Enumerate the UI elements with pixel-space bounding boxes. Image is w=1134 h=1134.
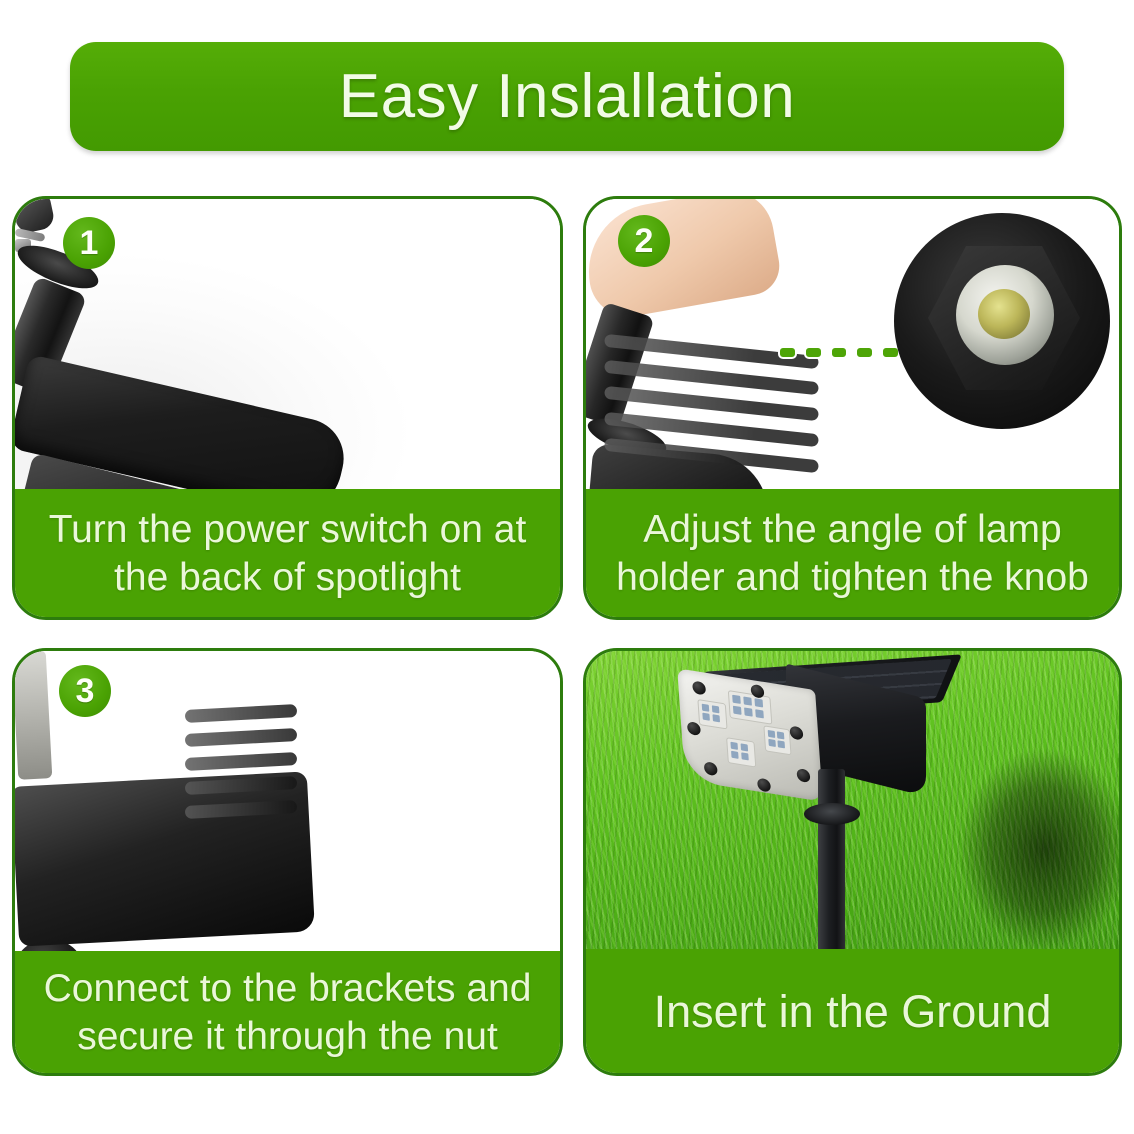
- dash-segment-icon: [830, 346, 849, 359]
- led-chip-icon: [712, 705, 720, 713]
- led-chip-icon: [743, 696, 752, 705]
- caption-bar-4: Insert in the Ground: [585, 949, 1120, 1074]
- led-chip-icon: [712, 714, 720, 722]
- faceplate-screw-icon: [796, 768, 810, 783]
- step-panel-2: 2 Adjust the angle of lamp hol: [583, 196, 1122, 620]
- led-chip-icon: [730, 742, 738, 750]
- led-chip-icon: [731, 751, 739, 759]
- caption-text-3: Connect to the brackets and secure it th…: [14, 965, 561, 1061]
- heatsink-fin-icon: [185, 704, 298, 723]
- led-module-icon: [726, 737, 756, 767]
- caption-bar-3: Connect to the brackets and secure it th…: [14, 951, 561, 1074]
- led-chip-icon: [702, 713, 710, 721]
- caption-text-2: Adjust the angle of lamp holder and tigh…: [585, 506, 1120, 602]
- led-chip-icon: [733, 706, 742, 715]
- page-title: Easy Inslallation: [339, 61, 796, 132]
- led-module-icon: [763, 725, 791, 755]
- faceplate-screw-icon: [692, 680, 706, 695]
- faceplate-screw-icon: [704, 761, 718, 776]
- led-chip-icon: [741, 752, 749, 760]
- spotlight-in-grass-photo: [586, 651, 1119, 951]
- led-chip-icon: [702, 704, 710, 712]
- screw-core-icon: [978, 289, 1030, 339]
- faceplate-screw-icon: [789, 725, 803, 740]
- led-chip-icon: [744, 707, 753, 716]
- caption-text-1: Turn the power switch on at the back of …: [14, 506, 561, 602]
- hex-nut-closeup-inset: [894, 213, 1110, 429]
- dash-segment-icon: [804, 346, 823, 359]
- led-module-icon: [728, 690, 773, 725]
- led-faceplate-icon: [677, 668, 823, 802]
- heatsink-fin-icon: [185, 752, 298, 771]
- led-chip-icon: [754, 698, 763, 707]
- step-panel-1: 1 Turn the power switch on at the back o…: [12, 196, 563, 620]
- heatsink-fin-icon: [185, 728, 298, 747]
- led-chip-icon: [777, 731, 785, 739]
- ground-stake-pole-icon: [818, 769, 845, 951]
- lamp-lens-icon: [15, 651, 52, 780]
- step-badge-3: 3: [59, 665, 111, 717]
- lamp-fixture-icon: [15, 771, 315, 946]
- step-panel-3: 3 Connect to the brackets and secure it …: [12, 648, 563, 1076]
- led-chip-icon: [755, 709, 764, 718]
- caption-bar-2: Adjust the angle of lamp holder and tigh…: [585, 489, 1120, 618]
- caption-text-4: Insert in the Ground: [642, 988, 1064, 1036]
- hand-icon: [586, 199, 784, 323]
- led-chip-icon: [768, 739, 776, 747]
- led-chip-icon: [741, 743, 749, 751]
- spotlight-exploded-parts-photo: 1: [15, 199, 560, 491]
- connect-bracket-photo: 3: [15, 651, 560, 953]
- led-chip-icon: [732, 695, 741, 704]
- faceplate-screw-icon: [757, 778, 771, 793]
- led-chip-icon: [777, 740, 785, 748]
- caption-bar-1: Turn the power switch on at the back of …: [14, 489, 561, 618]
- step-badge-2: 2: [618, 215, 670, 267]
- step-badge-1: 1: [63, 217, 115, 269]
- led-module-icon: [697, 699, 727, 729]
- dash-segment-icon: [855, 346, 874, 359]
- led-chip-icon: [768, 730, 776, 738]
- adjust-lamp-holder-photo: 2: [586, 199, 1119, 491]
- step-panel-4: Insert in the Ground: [583, 648, 1122, 1076]
- stake-collar-icon: [804, 803, 860, 825]
- dash-segment-icon: [778, 346, 797, 359]
- header-banner: Easy Inslallation: [70, 42, 1064, 151]
